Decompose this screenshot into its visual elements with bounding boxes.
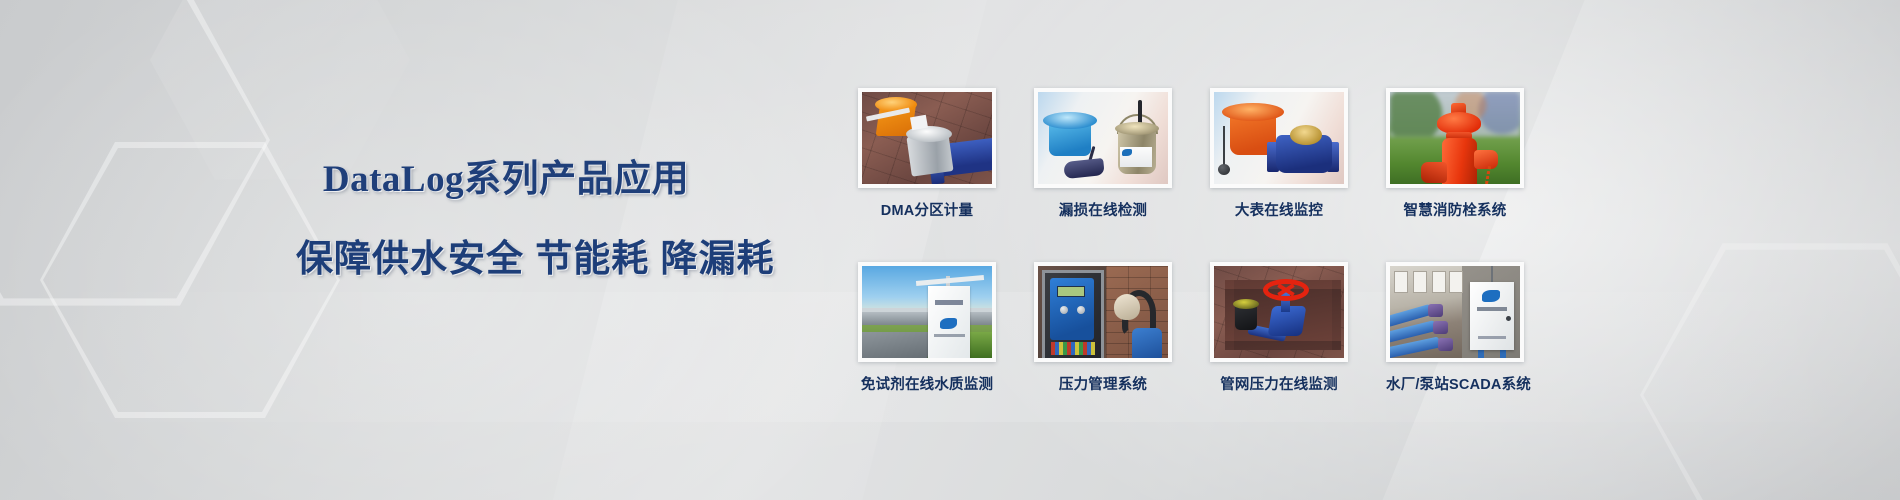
- product-card-3[interactable]: 大表在线监控: [1210, 88, 1348, 240]
- scada-pump-station-photo: [1390, 266, 1520, 358]
- leak-detection-loggers-photo: [1038, 92, 1168, 184]
- product-caption-4: 智慧消防栓系统: [1386, 199, 1524, 220]
- water-quality-station-photo: [862, 266, 992, 358]
- product-thumbnail-1[interactable]: [858, 88, 996, 188]
- product-card-5[interactable]: 免试剂在线水质监测: [858, 262, 996, 414]
- product-banner: DataLog系列产品应用 保障供水安全 节能耗 降漏耗 DMA分区计量: [0, 0, 1900, 500]
- product-card-7[interactable]: 管网压力在线监测: [1210, 262, 1348, 414]
- product-thumbnail-4[interactable]: [1386, 88, 1524, 188]
- product-thumbnail-7[interactable]: [1210, 262, 1348, 362]
- product-card-6[interactable]: 压力管理系统: [1034, 262, 1172, 414]
- product-thumbnail-3[interactable]: [1210, 88, 1348, 188]
- product-thumbnail-5[interactable]: [858, 262, 996, 362]
- product-caption-3: 大表在线监控: [1210, 199, 1348, 220]
- hexagon-watermark-2: [40, 130, 340, 430]
- product-card-2[interactable]: 漏损在线检测: [1034, 88, 1172, 240]
- product-thumbnail-2[interactable]: [1034, 88, 1172, 188]
- product-thumbnail-8[interactable]: [1386, 262, 1524, 362]
- hexagon-watermark-1: [0, 0, 270, 320]
- smart-fire-hydrant-photo: [1390, 92, 1520, 184]
- headline-block: DataLog系列产品应用 保障供水安全 节能耗 降漏耗: [296, 148, 716, 282]
- hexagon-watermark-4: [1640, 230, 1900, 500]
- product-card-4[interactable]: 智慧消防栓系统: [1386, 88, 1524, 240]
- product-caption-6: 压力管理系统: [1034, 373, 1172, 394]
- headline-line-1: DataLog系列产品应用: [296, 148, 716, 202]
- pipeline-pressure-valve-photo: [1214, 266, 1344, 358]
- product-grid: DMA分区计量 漏损在线检测: [858, 88, 1524, 414]
- product-card-1[interactable]: DMA分区计量: [858, 88, 996, 240]
- dma-zone-metering-photo: [862, 92, 992, 184]
- product-thumbnail-6[interactable]: [1034, 262, 1172, 362]
- product-caption-7: 管网压力在线监测: [1210, 373, 1348, 394]
- bulk-meter-monitoring-photo: [1214, 92, 1344, 184]
- headline-line-2: 保障供水安全 节能耗 降漏耗: [296, 228, 716, 282]
- pressure-management-cabinet-photo: [1038, 266, 1168, 358]
- product-caption-2: 漏损在线检测: [1034, 199, 1172, 220]
- product-caption-1: DMA分区计量: [858, 199, 996, 220]
- product-card-8[interactable]: 水厂/泵站SCADA系统: [1386, 262, 1524, 414]
- product-caption-5: 免试剂在线水质监测: [858, 373, 996, 394]
- product-caption-8: 水厂/泵站SCADA系统: [1386, 373, 1524, 394]
